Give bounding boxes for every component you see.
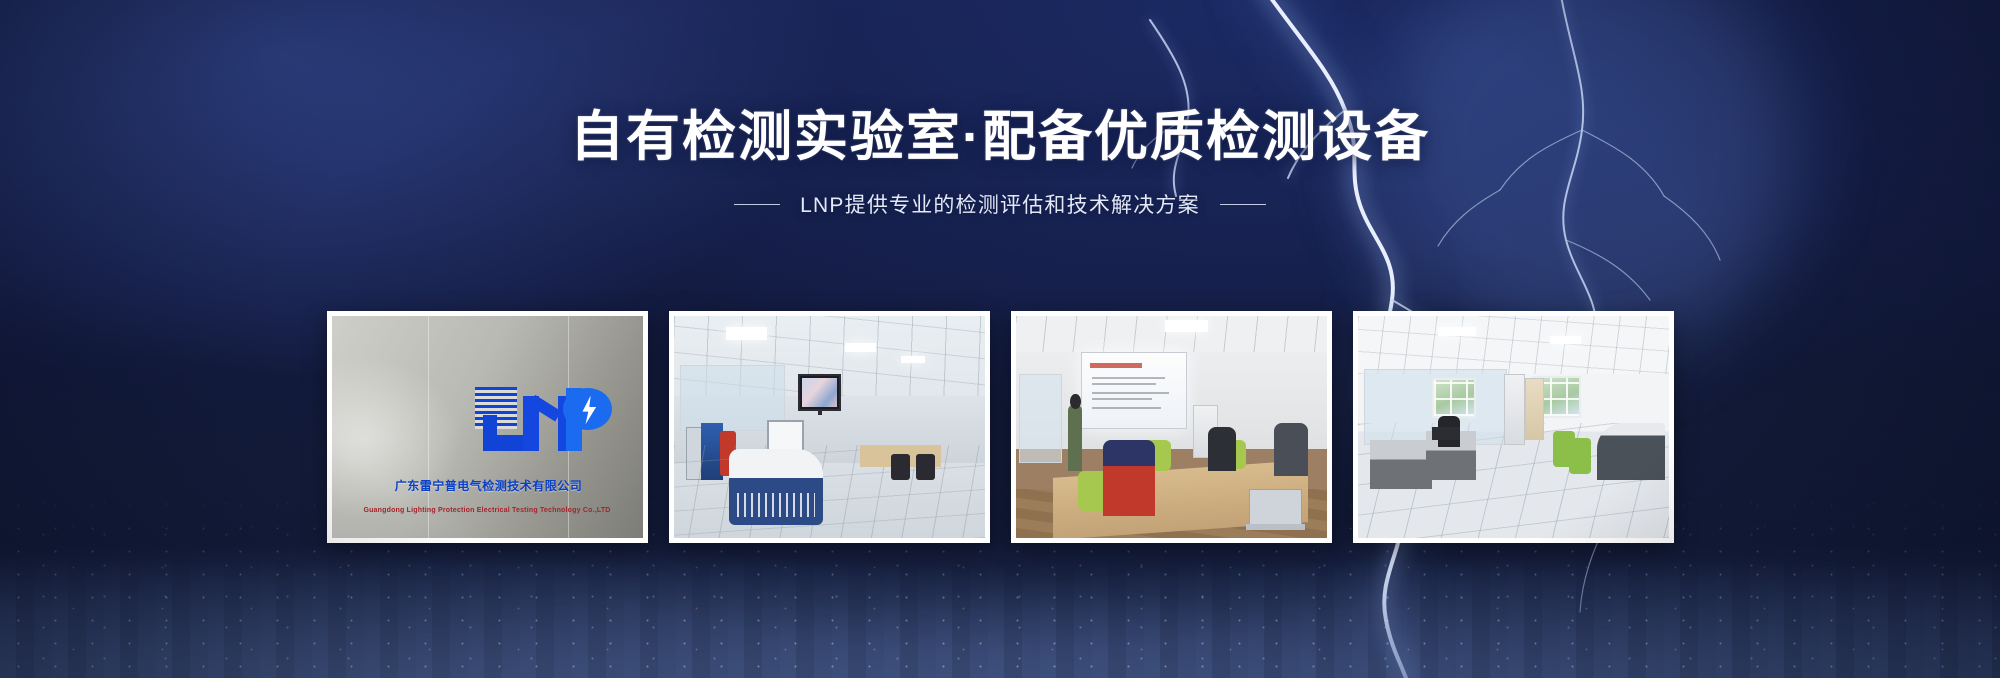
photo-open-office: [1358, 316, 1669, 538]
photo-card-open-office[interactable]: [1353, 311, 1674, 543]
visitor-chair: [1569, 438, 1591, 474]
ceiling-light: [901, 356, 926, 363]
lnp-logo-icon: [475, 376, 618, 451]
presenter-person: [1068, 405, 1082, 472]
glass-door: [1019, 374, 1063, 463]
presenter-head: [1070, 394, 1081, 410]
attendee-person: [1103, 440, 1156, 515]
banner-subtitle-row: LNP提供专业的检测评估和技术解决方案: [0, 189, 2000, 219]
company-name-cn: 广东雷宁普电气检测技术有限公司: [344, 477, 633, 494]
company-name-en: Guangdong Lighting Protection Electrical…: [341, 507, 633, 514]
divider-left: [734, 204, 780, 205]
reception-counter: [1597, 423, 1665, 481]
office-chair: [916, 454, 935, 481]
attendee-person: [1274, 423, 1308, 476]
ceiling-light: [726, 327, 766, 340]
banner-subtitle: LNP提供专业的检测评估和技术解决方案: [800, 189, 1200, 219]
laptop: [1249, 489, 1302, 525]
window: [1432, 378, 1476, 418]
wall-mounted-display: [798, 374, 842, 412]
photo-gallery: 广东雷宁普电气检测技术有限公司 Guangdong Lighting Prote…: [0, 311, 2000, 543]
hero-banner: 自有检测实验室·配备优质检测设备 LNP提供专业的检测评估和技术解决方案 广东雷…: [0, 0, 2000, 678]
photo-card-company-signage[interactable]: 广东雷宁普电气检测技术有限公司 Guangdong Lighting Prote…: [327, 311, 648, 543]
office-ceiling: [1358, 316, 1669, 374]
photo-testing-laboratory: [674, 316, 985, 538]
wall-sheen: [332, 356, 463, 520]
projector-screen: [1081, 352, 1187, 430]
ceiling-light: [845, 343, 876, 352]
photo-meeting-room: [1016, 316, 1327, 538]
page-title: 自有检测实验室·配备优质检测设备: [0, 108, 2000, 167]
ceiling-light: [1165, 320, 1209, 331]
storage-cabinet: [1504, 374, 1526, 445]
ceiling-light: [1438, 327, 1475, 336]
attendee-person: [1208, 427, 1236, 471]
control-console: [729, 449, 822, 524]
office-desk: [1370, 440, 1432, 489]
photo-card-meeting-room[interactable]: [1011, 311, 1332, 543]
banner-text-block: 自有检测实验室·配备优质检测设备 LNP提供专业的检测评估和技术解决方案: [0, 108, 2000, 219]
wood-shelf: [1525, 378, 1544, 440]
photo-company-signage: 广东雷宁普电气检测技术有限公司 Guangdong Lighting Prote…: [332, 316, 643, 538]
desktop-monitor: [1432, 427, 1460, 440]
divider-right: [1220, 204, 1266, 205]
ceiling-light: [1550, 336, 1581, 344]
wall-seam: [428, 316, 429, 538]
office-chair: [891, 454, 910, 481]
photo-card-testing-laboratory[interactable]: [669, 311, 990, 543]
